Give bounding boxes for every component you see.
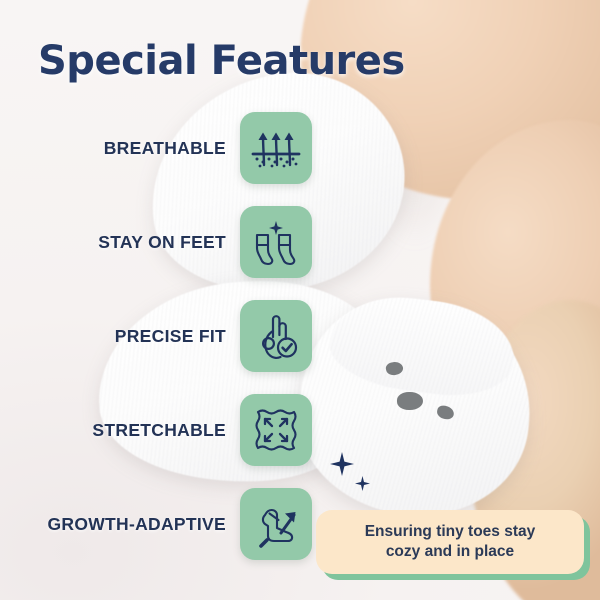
breathing-airflow-arrows-icon [251, 123, 301, 173]
ok-hand-check-badge-icon [251, 311, 301, 361]
caption-text: Ensuring tiny toes stay cozy and in plac… [365, 522, 536, 563]
page-title: Special Features [38, 38, 405, 84]
caption-line-2: cozy and in place [386, 543, 514, 560]
feature-tile-breathable [240, 112, 312, 184]
wavy-square-expand-arrows-icon [251, 405, 301, 455]
feature-tile-growth-adaptive [240, 488, 312, 560]
feature-row-breathable: BREATHABLE [0, 112, 312, 184]
sock-growth-arrow-icon [251, 499, 301, 549]
feature-tile-stay-on-feet [240, 206, 312, 278]
feature-label-stretchable: STRETCHABLE [92, 420, 226, 441]
caption-line-1: Ensuring tiny toes stay [365, 523, 536, 540]
pair-of-socks-sparkle-icon [251, 217, 301, 267]
feature-row-stretchable: STRETCHABLE [0, 394, 312, 466]
feature-tile-stretchable [240, 394, 312, 466]
feature-label-growth-adaptive: GROWTH-ADAPTIVE [47, 514, 226, 535]
feature-label-precise-fit: PRECISE FIT [115, 326, 226, 347]
feature-label-stay-on-feet: STAY ON FEET [98, 232, 226, 253]
feature-row-stay-on-feet: STAY ON FEET [0, 206, 312, 278]
feature-label-breathable: BREATHABLE [104, 138, 226, 159]
caption-box: Ensuring tiny toes stay cozy and in plac… [316, 510, 584, 574]
feature-tile-precise-fit [240, 300, 312, 372]
caption-callout: Ensuring tiny toes stay cozy and in plac… [316, 510, 584, 574]
feature-row-growth-adaptive: GROWTH-ADAPTIVE [0, 488, 312, 560]
feature-row-precise-fit: PRECISE FIT [0, 300, 312, 372]
features-overlay: Special Features BREATHABLE [0, 0, 600, 600]
